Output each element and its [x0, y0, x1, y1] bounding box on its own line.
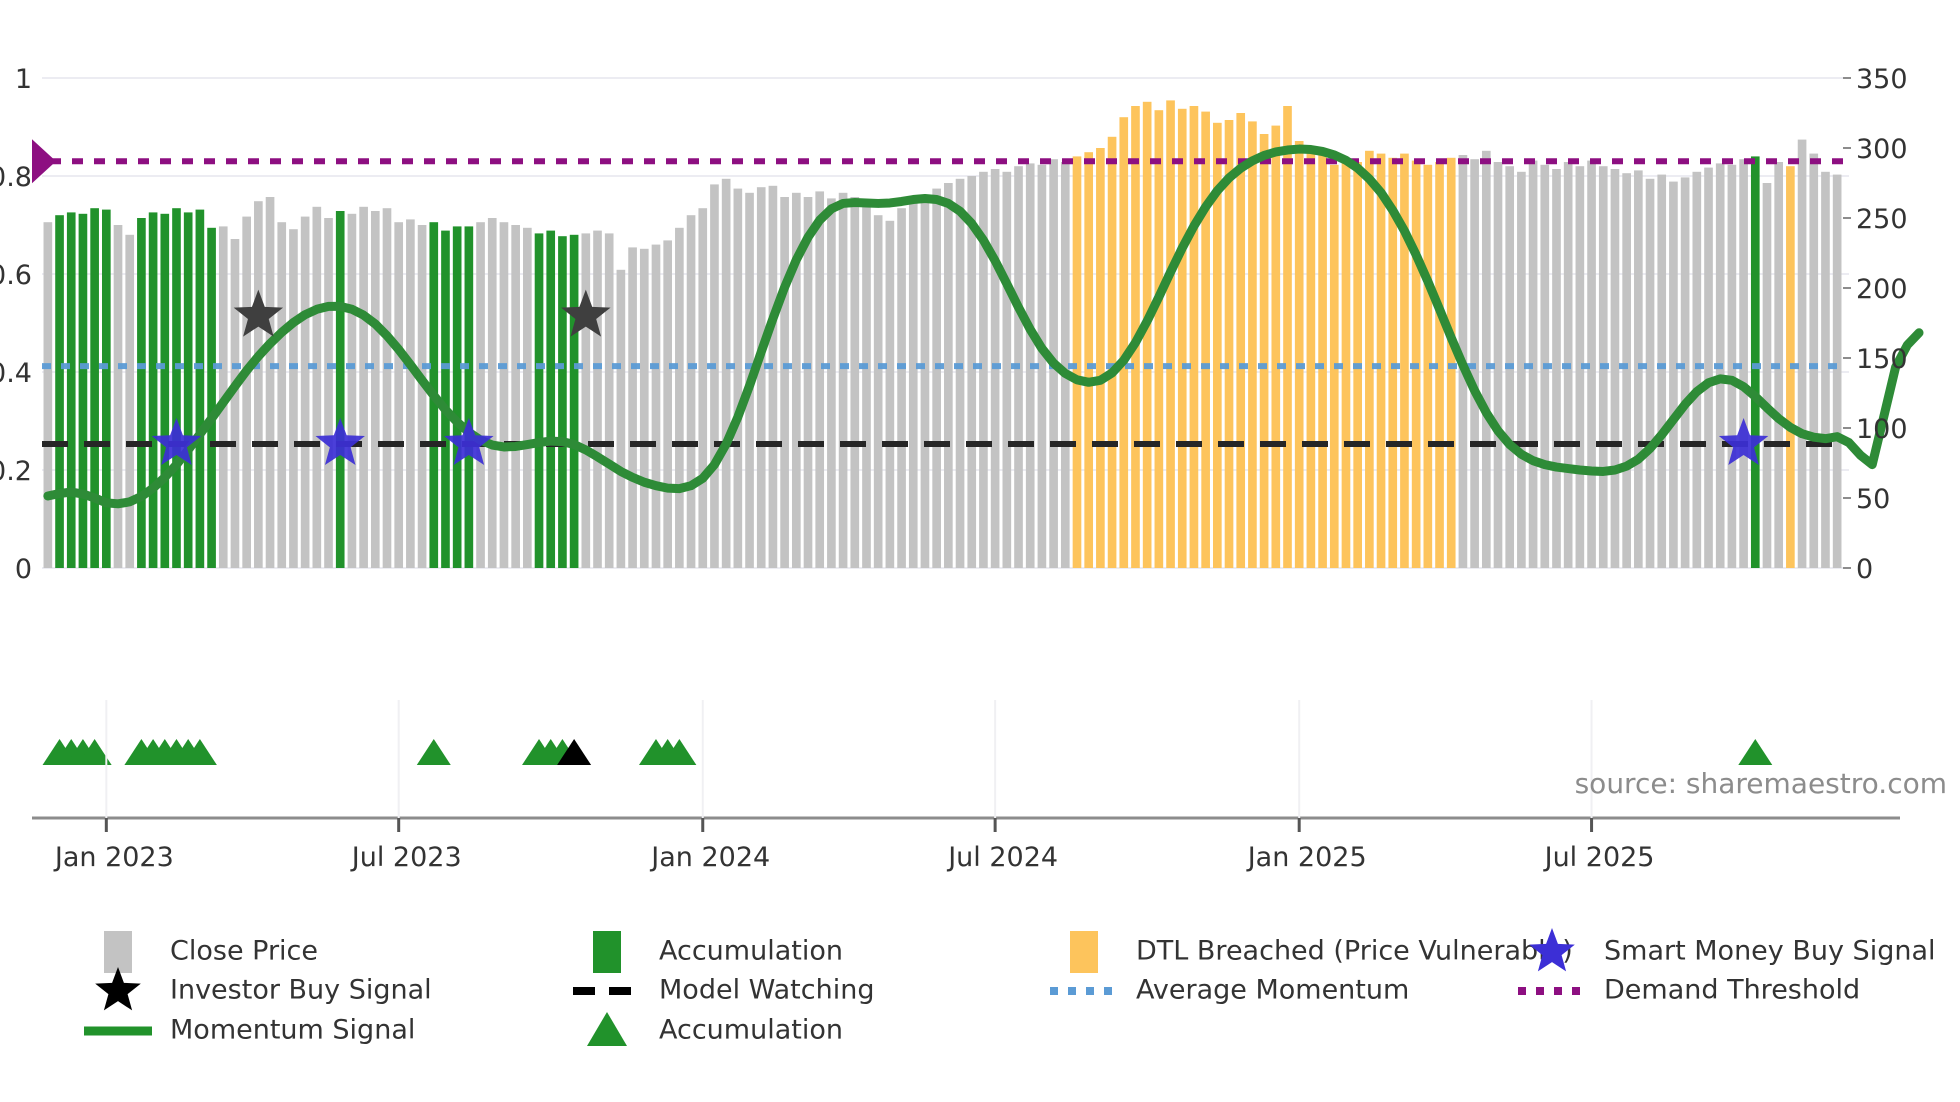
price-bar-dtl-breached: [1108, 137, 1117, 568]
price-bar-close: [815, 191, 824, 568]
price-bar-close: [254, 201, 263, 568]
price-bar-close: [640, 249, 649, 568]
x-axis-tick-label: Jan 2025: [1246, 842, 1367, 873]
price-bar-close: [1552, 169, 1561, 568]
price-bar-close: [523, 228, 532, 568]
legend-swatch-icon: [593, 931, 621, 973]
price-bar-close: [1833, 175, 1842, 568]
price-bar-close: [383, 208, 392, 568]
price-bar-close: [663, 240, 672, 568]
left-axis-tick-label: 1: [15, 64, 32, 95]
price-bar-dtl-breached: [1400, 154, 1409, 568]
price-bar-dtl-breached: [1073, 156, 1082, 568]
price-bar-close: [1692, 172, 1701, 568]
right-axis-tick-label: 250: [1856, 204, 1908, 235]
left-axis-tick-label: 0.2: [0, 456, 32, 487]
price-bar-accumulation: [336, 211, 345, 568]
source-attribution: source: sharemaestro.com: [1575, 767, 1947, 800]
legend-item-label: Average Momentum: [1136, 975, 1409, 1006]
price-bar-close: [406, 219, 415, 568]
legend-item-label: Momentum Signal: [170, 1015, 415, 1046]
price-bar-close: [581, 233, 590, 568]
price-bar-close: [605, 233, 614, 568]
price-bar-close: [1798, 140, 1807, 568]
price-bar-close: [1821, 172, 1830, 568]
legend-item-label: Investor Buy Signal: [170, 975, 432, 1006]
price-bar-close: [1809, 154, 1818, 568]
left-axis-tick-label: 0.6: [0, 260, 32, 291]
price-bar-close: [418, 225, 427, 568]
price-bar-close: [675, 228, 684, 568]
price-bar-dtl-breached: [1447, 158, 1456, 568]
right-axis-tick-label: 50: [1856, 484, 1890, 515]
x-axis-tick-label: Jan 2023: [53, 842, 174, 873]
price-bar-close: [289, 229, 298, 568]
price-bar-close: [909, 198, 918, 568]
price-bar-close: [944, 183, 953, 568]
price-bar-dtl-breached: [1318, 154, 1327, 568]
price-bar-close: [722, 179, 731, 568]
price-bar-close: [827, 198, 836, 568]
price-bar-accumulation: [546, 231, 555, 568]
price-bar-close: [231, 239, 240, 568]
price-bar-close: [769, 186, 778, 568]
price-bar-close: [850, 197, 859, 568]
price-bar-dtl-breached: [1248, 121, 1257, 568]
price-bar-close: [617, 270, 626, 568]
x-axis-tick-label: Jul 2025: [1543, 842, 1655, 873]
price-bar-close: [348, 214, 357, 568]
price-bar-close: [1669, 182, 1678, 568]
price-bar-close: [511, 225, 520, 568]
price-bar-close: [1681, 177, 1690, 568]
price-bar-dtl-breached: [1260, 134, 1269, 568]
price-bar-close: [394, 222, 403, 568]
price-bar-accumulation: [1751, 156, 1760, 568]
price-bar-accumulation: [102, 210, 111, 568]
price-bar-accumulation: [67, 212, 76, 568]
price-bar-dtl-breached: [1377, 154, 1386, 568]
price-bar-accumulation: [196, 210, 205, 568]
price-bar-close: [1646, 179, 1655, 568]
price-bar-dtl-breached: [1119, 117, 1128, 568]
price-bar-close: [921, 201, 930, 568]
legend-item-label: Smart Money Buy Signal: [1604, 936, 1936, 967]
price-bar-close: [488, 218, 497, 568]
legend-swatch-icon: [1070, 931, 1098, 973]
price-bar-dtl-breached: [1190, 106, 1199, 568]
legend-item-label: DTL Breached (Price Vulnerable): [1136, 936, 1573, 967]
x-axis-tick-label: Jul 2024: [946, 842, 1058, 873]
price-bar-dtl-breached: [1271, 126, 1280, 568]
chart-root: 00.20.40.60.81050100150200250300350Jan 2…: [0, 0, 1960, 1102]
price-bar-close: [266, 197, 275, 568]
price-bar-close: [359, 207, 368, 568]
price-bar-accumulation: [55, 215, 64, 568]
legend-item-label: Close Price: [170, 936, 318, 967]
price-bar-accumulation: [79, 214, 88, 568]
price-bar-accumulation: [90, 208, 99, 568]
price-bar-accumulation: [535, 233, 544, 568]
price-bar-dtl-breached: [1178, 109, 1187, 568]
price-bar-close: [476, 222, 485, 568]
right-axis-tick-label: 300: [1856, 134, 1908, 165]
price-bar-close: [886, 221, 895, 568]
price-bar-close: [1657, 175, 1666, 568]
price-bar-close: [44, 222, 53, 568]
price-bar-close: [652, 245, 661, 568]
price-bar-close: [324, 218, 333, 568]
price-bar-dtl-breached: [1236, 113, 1245, 568]
x-axis-tick-label: Jan 2024: [649, 842, 770, 873]
price-bar-close: [1482, 151, 1491, 568]
price-bar-accumulation: [465, 226, 474, 568]
price-bar-close: [932, 189, 941, 568]
price-bar-dtl-breached: [1365, 151, 1374, 568]
price-bar-dtl-breached: [1295, 141, 1304, 568]
price-bar-accumulation: [453, 226, 462, 568]
price-bar-close: [593, 231, 602, 568]
legend-swatch-icon: [104, 931, 132, 973]
price-bar-close: [313, 207, 322, 568]
price-bar-accumulation: [207, 228, 216, 568]
price-bar-close: [371, 211, 380, 568]
price-bar-close: [628, 247, 637, 568]
price-bar-dtl-breached: [1096, 148, 1105, 568]
price-bar-close: [125, 235, 134, 568]
price-bar-close: [242, 217, 251, 568]
price-bar-close: [1634, 170, 1643, 568]
price-bar-accumulation: [570, 235, 579, 568]
price-bar-accumulation: [149, 212, 158, 568]
price-bar-close: [1704, 168, 1713, 568]
left-axis-tick-label: 0.4: [0, 358, 32, 389]
price-bar-close: [301, 217, 310, 568]
price-bar-close: [1622, 173, 1631, 568]
price-bar-accumulation: [184, 212, 193, 568]
price-bar-dtl-breached: [1307, 148, 1316, 568]
price-bar-close: [114, 225, 123, 568]
price-bar-accumulation: [160, 214, 169, 568]
left-axis-tick-label: 0: [15, 554, 32, 585]
legend-item-label: Model Watching: [659, 975, 874, 1006]
price-bar-accumulation: [172, 208, 181, 568]
price-bar-close: [874, 215, 883, 568]
right-axis-tick-label: 0: [1856, 554, 1873, 585]
price-bar-dtl-breached: [1201, 112, 1210, 568]
price-bar-close: [862, 204, 871, 568]
price-bar-close: [757, 187, 766, 568]
price-bar-close: [734, 189, 743, 568]
price-bar-close: [1763, 183, 1772, 568]
legend-item-label: Accumulation: [659, 936, 843, 967]
x-axis-tick-label: Jul 2023: [350, 842, 462, 873]
price-bar-accumulation: [558, 236, 567, 568]
price-bar-close: [839, 193, 848, 568]
price-bar-close: [1002, 172, 1011, 568]
price-bar-close: [710, 184, 719, 568]
price-bar-close: [277, 222, 286, 568]
right-axis-tick-label: 150: [1856, 344, 1908, 375]
legend-item-label: Accumulation: [659, 1015, 843, 1046]
price-bar-close: [780, 197, 789, 568]
left-axis-tick-label: 0.8: [0, 162, 32, 193]
price-bar-close: [956, 179, 965, 568]
price-bar-dtl-breached: [1084, 152, 1093, 568]
price-bar-close: [687, 215, 696, 568]
right-axis-tick-label: 200: [1856, 274, 1908, 305]
price-bar-dtl-breached: [1283, 106, 1292, 568]
price-bar-dtl-breached: [1166, 100, 1175, 568]
price-bar-close: [1517, 172, 1526, 568]
legend-item-label: Demand Threshold: [1604, 975, 1860, 1006]
right-axis-tick-label: 350: [1856, 64, 1908, 95]
price-bar-close: [698, 208, 707, 568]
price-bar-accumulation: [137, 218, 146, 568]
financial-chart: 00.20.40.60.81050100150200250300350Jan 2…: [0, 0, 1960, 1102]
price-bar-close: [500, 222, 509, 568]
price-bar-dtl-breached: [1155, 110, 1164, 568]
price-bar-close: [897, 208, 906, 568]
price-bar-close: [1611, 169, 1620, 568]
right-axis-tick-label: 100: [1856, 414, 1908, 445]
